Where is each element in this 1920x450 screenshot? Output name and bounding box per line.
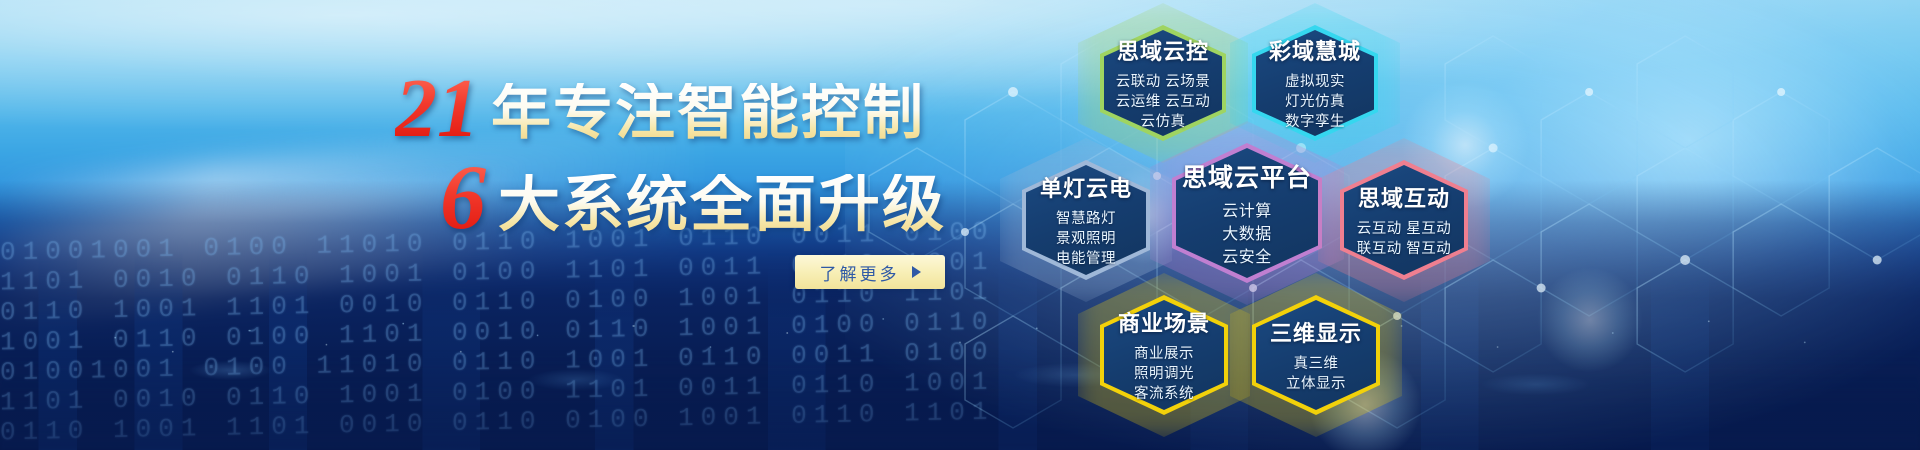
hexagon-subtitle: 智慧路灯景观照明电能管理: [1056, 209, 1116, 269]
hexagon-title: 思域互动: [1358, 181, 1450, 213]
hexagon-subtitle-line: 联互动 智互动: [1357, 239, 1452, 259]
hexagon-title: 思域云平台: [1182, 158, 1312, 194]
hexagon-card-three-dimensional-display[interactable]: 三维显示真三维立体显示: [1252, 295, 1380, 415]
hexagon-subtitle: 云联动 云场景云运维 云互动云仿真: [1116, 72, 1211, 132]
hexagon-subtitle-line: 大数据: [1222, 223, 1272, 246]
hexagon-subtitle-line: 虚拟现实: [1285, 72, 1345, 92]
hexagon-content: 彩域慧城虚拟现实灯光仿真数字孪生: [1252, 34, 1378, 132]
hexagon-subtitle-line: 云计算: [1222, 200, 1272, 223]
hexagon-subtitle: 真三维立体显示: [1286, 354, 1346, 394]
hexagon-subtitle-line: 照明调光: [1134, 364, 1194, 384]
hexagon-content: 商业场景商业展示照明调光客流系统: [1100, 306, 1228, 404]
hexagon-subtitle-line: 景观照明: [1056, 229, 1116, 249]
hexagon-content: 思域云平台云计算大数据云安全: [1172, 158, 1322, 269]
hexagon-subtitle-line: 灯光仿真: [1285, 92, 1345, 112]
hexagon-content: 思域互动云互动 星互动联互动 智互动: [1340, 181, 1468, 259]
hexagon-content: 思域云控云联动 云场景云运维 云互动云仿真: [1100, 34, 1226, 132]
hexagon-card-siyu-cloud-platform[interactable]: 思域云平台云计算大数据云安全: [1172, 143, 1322, 283]
hexagon-subtitle-line: 云仿真: [1116, 112, 1211, 132]
hexagon-card-caiyu-smart-city[interactable]: 彩域慧城虚拟现实灯光仿真数字孪生: [1252, 25, 1378, 141]
hexagon-subtitle: 商业展示照明调光客流系统: [1134, 344, 1194, 404]
hexagon-card-single-lamp-cloud-power[interactable]: 单灯云电智慧路灯景观照明电能管理: [1022, 160, 1150, 280]
hexagon-subtitle: 云计算大数据云安全: [1222, 200, 1272, 269]
hexagon-card-commercial-scene[interactable]: 商业场景商业展示照明调光客流系统: [1100, 295, 1228, 415]
hexagon-card-siyu-interaction[interactable]: 思域互动云互动 星互动联互动 智互动: [1340, 160, 1468, 280]
promo-banner: 01001001 0100 11010 0110 1001 0110 0011 …: [0, 0, 1920, 450]
hexagon-title: 商业场景: [1118, 306, 1210, 338]
hexagon-subtitle-line: 商业展示: [1134, 344, 1194, 364]
hexagon-title: 三维显示: [1270, 316, 1362, 348]
hexagon-content: 三维显示真三维立体显示: [1252, 316, 1380, 394]
hexagon-subtitle-line: 立体显示: [1286, 374, 1346, 394]
hexagon-title: 彩域慧城: [1269, 34, 1361, 66]
hexagon-subtitle-line: 云互动 星互动: [1357, 219, 1452, 239]
hexagon-subtitle-line: 电能管理: [1056, 249, 1116, 269]
hexagon-subtitle-line: 智慧路灯: [1056, 209, 1116, 229]
hexagon-subtitle-line: 云安全: [1222, 246, 1272, 269]
hexagon-subtitle-line: 数字孪生: [1285, 112, 1345, 132]
hexagon-subtitle-line: 客流系统: [1134, 384, 1194, 404]
hexagon-card-siyu-cloud-control[interactable]: 思域云控云联动 云场景云运维 云互动云仿真: [1100, 25, 1226, 141]
hexagon-content: 单灯云电智慧路灯景观照明电能管理: [1022, 171, 1150, 269]
hexagon-title: 思域云控: [1117, 34, 1209, 66]
hexagon-title: 单灯云电: [1040, 171, 1132, 203]
hexagon-subtitle: 云互动 星互动联互动 智互动: [1357, 219, 1452, 259]
hexagon-subtitle-line: 云联动 云场景: [1116, 72, 1211, 92]
hexagon-subtitle-line: 真三维: [1286, 354, 1346, 374]
hexagon-card-group: 思域云控云联动 云场景云运维 云互动云仿真彩域慧城虚拟现实灯光仿真数字孪生单灯云…: [0, 0, 1920, 450]
hexagon-subtitle-line: 云运维 云互动: [1116, 92, 1211, 112]
hexagon-subtitle: 虚拟现实灯光仿真数字孪生: [1285, 72, 1345, 132]
